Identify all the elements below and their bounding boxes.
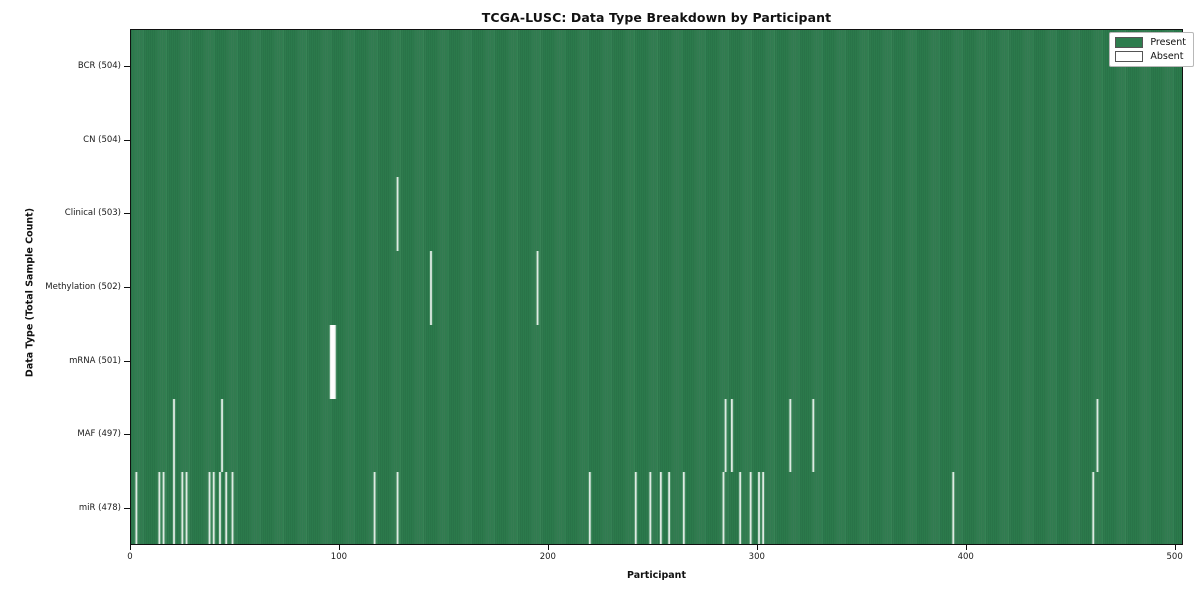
x-tick-label: 400 [958, 552, 974, 562]
heatmap-row [131, 399, 1182, 473]
heatmap-row [131, 325, 1182, 399]
heatmap-row-canvas [131, 399, 1183, 473]
y-tick-label: mRNA (501) [69, 356, 121, 366]
heatmap-row-canvas [131, 30, 1183, 104]
heatmap-plot-area [130, 29, 1183, 545]
legend-item-absent[interactable]: Absent [1115, 51, 1186, 62]
x-tick-label: 0 [127, 552, 132, 562]
chart-figure: TCGA-LUSC: Data Type Breakdown by Partic… [0, 0, 1200, 600]
legend-item-present[interactable]: Present [1115, 37, 1186, 48]
x-tick-mark [130, 545, 131, 550]
chart-legend[interactable]: Present Absent [1109, 32, 1194, 67]
legend-label-present: Present [1150, 38, 1186, 48]
heatmap-row-canvas [131, 251, 1183, 325]
legend-swatch-present [1115, 37, 1143, 48]
heatmap-row [131, 30, 1182, 104]
x-tick-label: 500 [1167, 552, 1183, 562]
y-tick-label: MAF (497) [77, 429, 121, 439]
x-tick-mark [339, 545, 340, 550]
heatmap-row [131, 251, 1182, 325]
heatmap-row-canvas [131, 325, 1183, 399]
x-tick-mark [548, 545, 549, 550]
heatmap-rows [131, 30, 1182, 544]
legend-swatch-absent [1115, 51, 1143, 62]
y-tick-label: Methylation (502) [45, 282, 121, 292]
x-axis-title: Participant [130, 570, 1183, 581]
y-tick-label: Clinical (503) [65, 208, 121, 218]
legend-label-absent: Absent [1150, 52, 1183, 62]
x-tick-label: 300 [749, 552, 765, 562]
x-tick-label: 200 [540, 552, 556, 562]
y-tick-label: miR (478) [79, 503, 121, 513]
heatmap-row-canvas [131, 472, 1183, 545]
heatmap-row [131, 472, 1182, 545]
x-tick-mark [1175, 545, 1176, 550]
y-axis-title: Data Type (Total Sample Count) [25, 143, 36, 443]
x-tick-label: 100 [331, 552, 347, 562]
x-tick-mark [966, 545, 967, 550]
y-tick-label: CN (504) [83, 135, 121, 145]
heatmap-row-canvas [131, 177, 1183, 251]
heatmap-row [131, 177, 1182, 251]
x-tick-mark [757, 545, 758, 550]
page-title: TCGA-LUSC: Data Type Breakdown by Partic… [130, 10, 1183, 25]
heatmap-row [131, 104, 1182, 178]
y-tick-label: BCR (504) [78, 61, 121, 71]
heatmap-row-canvas [131, 104, 1183, 178]
